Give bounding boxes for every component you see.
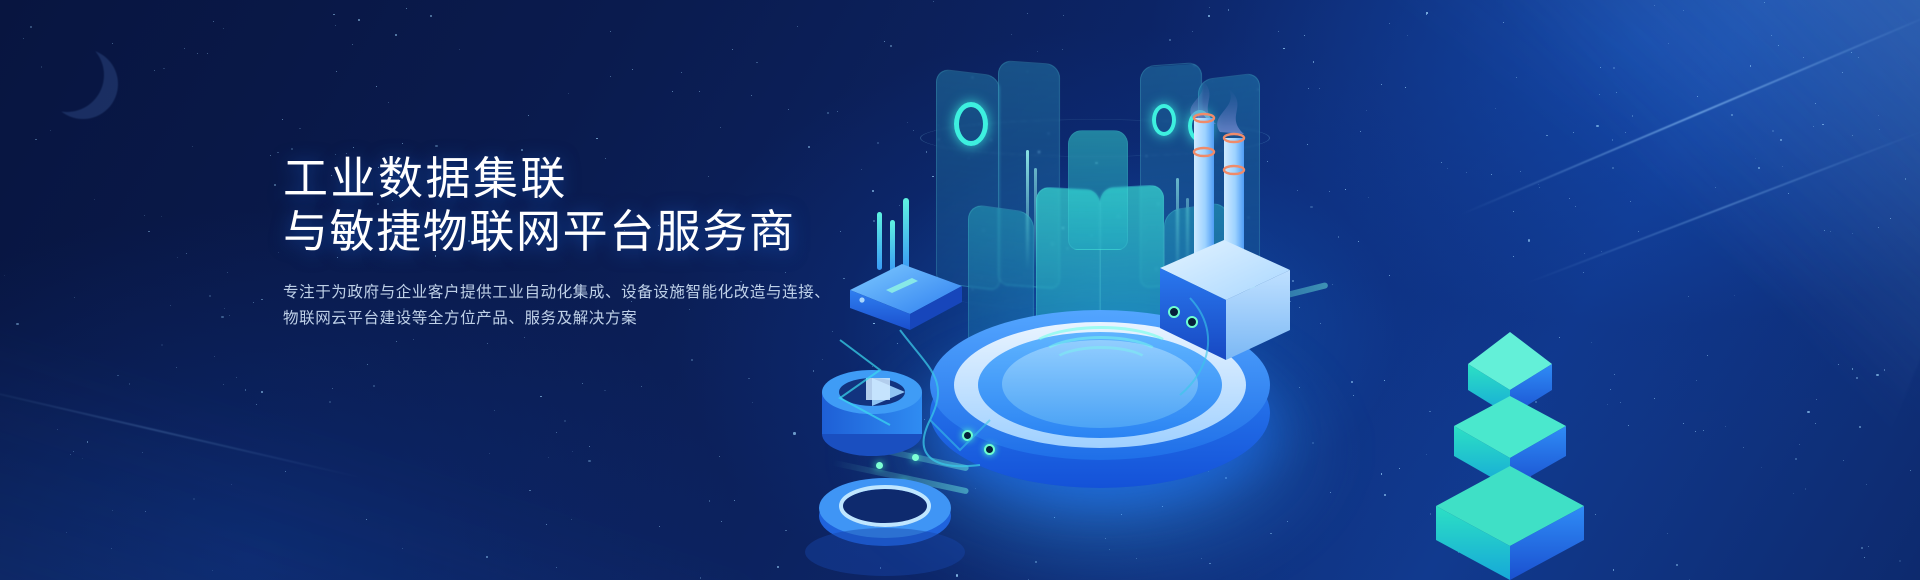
router-svg [840, 180, 990, 330]
hero-banner: 工业数据集联 与敏捷物联网平台服务商 专注于为政府与企业客户提供工业自动化集成、… [0, 0, 1920, 580]
landing-pad [800, 430, 970, 580]
hero-subtitle: 专注于为政府与企业客户提供工业自动化集成、设备设施智能化改造与连接、 物联网云平… [283, 280, 843, 332]
pad-svg [800, 430, 970, 580]
factory-svg [1150, 60, 1380, 380]
light-ray-3 [0, 380, 365, 478]
wireless-router [840, 180, 990, 330]
moon-crescent [30, 38, 104, 112]
holo-ring-glyph-left [954, 102, 988, 146]
hero-illustration [780, 0, 1920, 580]
hero-subtitle-line-1: 专注于为政府与企业客户提供工业自动化集成、设备设施智能化改造与连接、 [283, 280, 843, 306]
disc-arc-3 [1050, 346, 1152, 384]
hero-title-line-2: 与敏捷物联网平台服务商 [283, 205, 843, 258]
factory-with-chimneys [1150, 60, 1380, 360]
hero-title-line-1: 工业数据集联 [283, 152, 843, 205]
holo-panel-center [1068, 130, 1128, 250]
pyramid-svg [1380, 330, 1640, 580]
hero-title: 工业数据集联 与敏捷物联网平台服务商 [283, 152, 843, 258]
disc-port-b [984, 444, 995, 455]
pyramid-stack [1380, 330, 1640, 580]
hero-subtitle-line-2: 物联网云平台建设等全方位产品、服务及解决方案 [283, 306, 843, 332]
hero-copy: 工业数据集联 与敏捷物联网平台服务商 专注于为政府与企业客户提供工业自动化集成、… [283, 152, 843, 332]
